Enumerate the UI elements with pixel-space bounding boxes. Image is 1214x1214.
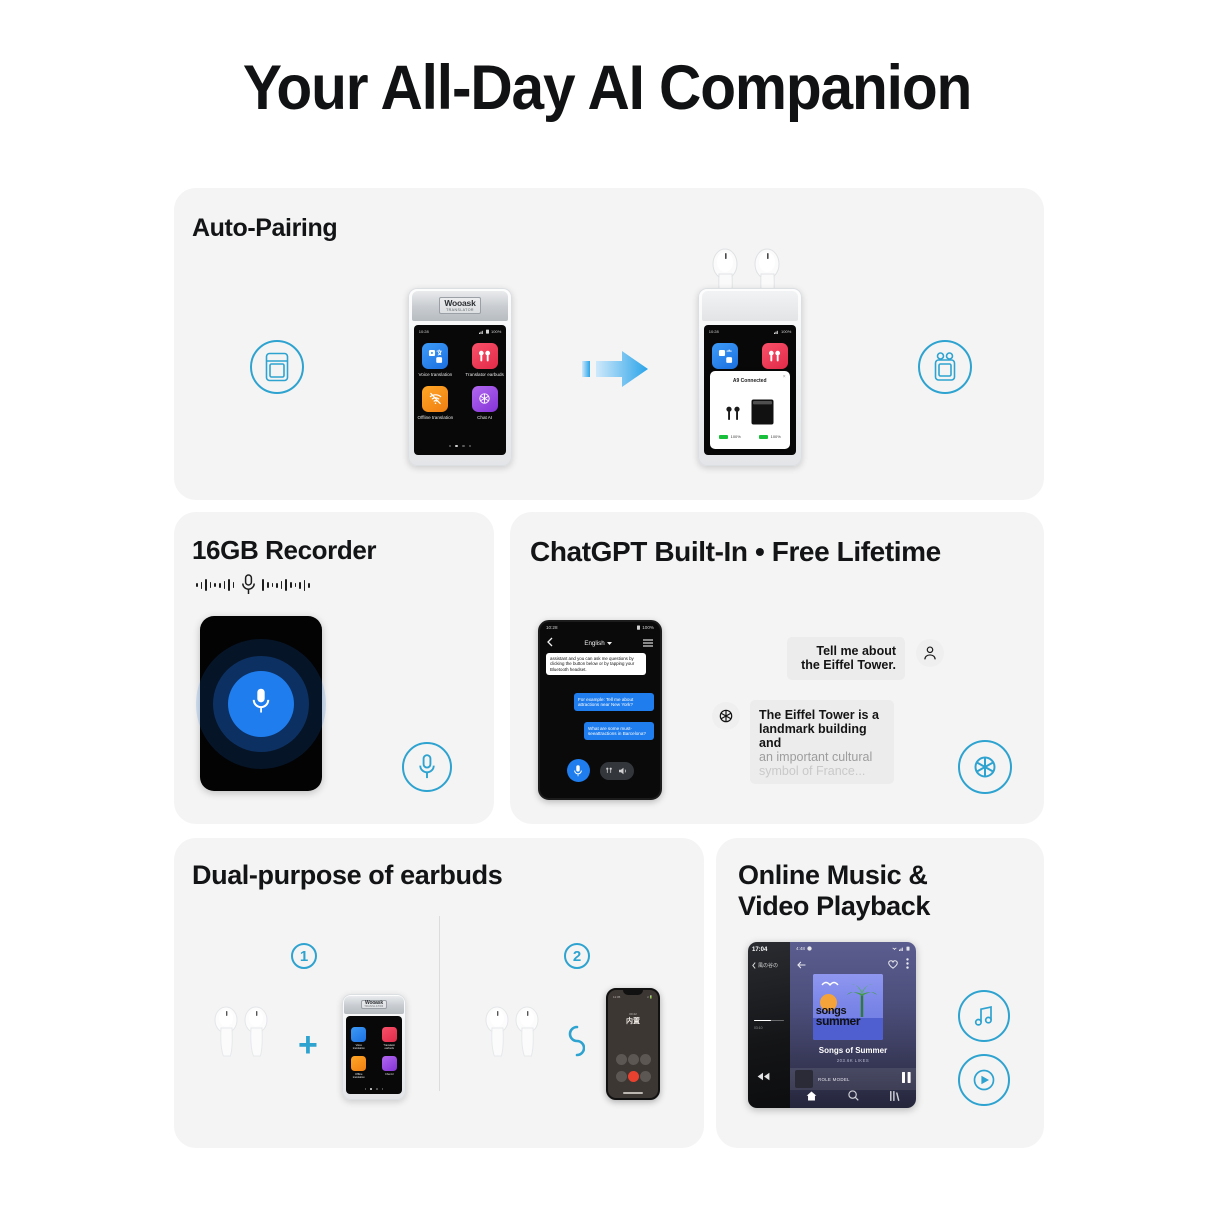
now-playing-title: ROLE MODEL [818,1077,897,1082]
app-tile-chat-ai[interactable]: Chat AI [472,386,498,420]
app-tile-translator-earbuds[interactable]: Translator earbuds [465,343,503,377]
phone-controls [540,759,660,782]
page-title: Your All-Day AI Companion [42,52,1171,124]
recorder-device [200,616,322,791]
card-title-recorder: 16GB Recorder [192,535,376,565]
dialog-device-icons [710,393,790,425]
app-tile-label: Voice translation [418,372,452,377]
music-statusbar: 4:48 [790,942,916,955]
option-2-number: 2 [564,943,590,969]
earbuds-icon [472,343,498,369]
heart-icon[interactable] [888,956,898,974]
card-music: Online Music & Video Playback 17:04 風の谷の… [716,838,1044,1148]
language-label: English [584,640,604,647]
album-art: songs summer [813,974,883,1040]
app-tile-label: Chat AI [472,415,498,420]
plus-symbol: + [298,1028,318,1062]
earbuds-speaker-pill[interactable] [600,762,634,780]
assistant-line-2: landmark building and [759,722,885,750]
video-pane: 17:04 風の谷の 03:10 [748,942,790,1108]
card-title-dual-purpose: Dual-purpose of earbuds [192,860,502,891]
card-dual-purpose: Dual-purpose of earbuds 1 + [174,838,704,1148]
device-brand-sub: TRANSLATOR [444,309,475,313]
speaker-button[interactable] [640,1054,651,1065]
contacts-button[interactable] [640,1071,651,1082]
keypad-button[interactable] [628,1054,639,1065]
paired-device-group: 10:28 100% [682,248,818,468]
offline-wifi-icon [351,1056,366,1071]
chevron-left-icon [752,962,756,969]
speaker-icon [619,767,628,775]
language-selector[interactable]: English [584,640,611,647]
status-time: 4:48 [796,946,805,951]
device-statusbar-paired: 10:28 100% [704,325,797,338]
status-battery: 100% [781,329,791,334]
music-bottom-nav [790,1089,916,1105]
right-arrow-icon [580,348,650,395]
music-player: 17:04 風の谷の 03:10 4:48 [748,942,916,1108]
close-icon[interactable]: × [783,374,786,380]
microphone-button[interactable] [567,759,590,782]
app-tile-label: Offline translation [418,415,454,420]
device-screen: 10:28 100% Voice translation [414,325,507,455]
divider [439,916,440,1091]
page-dots [414,445,507,448]
earbuds-icon [605,766,613,775]
voice-translation-icon [712,343,738,369]
infographic-page: Your All-Day AI Companion Auto-Pairing W… [0,0,1214,1214]
link-chain-icon [563,1023,585,1066]
translator-device-left: Wooask TRANSLATOR 10:28 100% [408,288,512,466]
music-pane: 4:48 [790,942,916,1108]
audio-waveform-icon [196,574,310,596]
person-icon [922,645,938,661]
record-button[interactable] [200,639,322,769]
battery-icon [637,625,640,630]
status-battery: 100% [491,329,501,334]
user-bubble-2: What are some must-seeattractions in Bar… [584,722,654,740]
user-line-1: Tell me about [796,644,896,658]
smartphone-call-icon: 11:05ıl 🔋 00:42 内置 [606,988,660,1100]
avatar-assistant [712,702,740,730]
assistant-bubble: assistant and you can ask me questions b… [546,653,646,675]
card-title-auto-pairing: Auto-Pairing [192,214,337,243]
now-playing-bar[interactable]: ROLE MODEL [790,1068,916,1090]
device-app-grid-small: Voicetranslation Translatorearbuds Offli… [346,1027,403,1080]
playlist-likes: 203.6K LIKES [790,1058,916,1063]
case-battery: 100% [771,434,781,439]
device-brand: Wooask [444,299,475,308]
music-note-circle-icon [958,990,1010,1042]
device-screen-paired: 10:28 100% [704,325,797,455]
device-brand-box: Wooask TRANSLATOR [439,297,480,314]
chevron-left-icon[interactable] [547,634,553,652]
video-time: 17:04 [752,947,767,953]
card-recorder: 16GB Recorder [174,512,494,824]
translator-device-right: 10:28 100% [698,288,802,466]
app-tile-label: Translator earbuds [465,372,503,377]
device-with-earbuds-icon [918,340,972,394]
bluetooth-signal-icon [774,330,779,334]
device-cap: Wooask TRANSLATOR [412,291,509,321]
device-app-grid-paired [704,343,797,369]
device-statusbar: 10:28 100% [414,325,507,338]
voice-translation-icon [422,343,448,369]
device-screen-small: Voicetranslation Translatorearbuds Offli… [346,1016,403,1093]
playlist-title: Songs of Summer [790,1046,916,1055]
assistant-line-1: The Eiffel Tower is a [759,708,885,722]
user-bubble-1: For example: Tell me about attractions n… [574,693,654,711]
app-tile-offline-translation[interactable]: Offline translation [418,386,454,420]
search-icon[interactable] [848,1088,859,1106]
card-auto-pairing: Auto-Pairing Wooask TRANSLATOR 10:28 [174,188,1044,500]
call-label: 内置 [608,1016,658,1026]
voice-translation-icon [351,1027,366,1042]
openai-icon [472,386,498,412]
library-icon[interactable] [890,1088,901,1106]
phone-navbar: English [540,635,660,651]
hamburger-menu-icon[interactable] [643,634,653,652]
rewind-icon[interactable] [757,1068,770,1086]
device-brand-sub: TRANSLATOR [364,1006,383,1008]
translator-device-icon [250,340,304,394]
call-keypad [608,1054,658,1082]
earbuds-battery: 100% [731,434,741,439]
status-battery: 100% [642,625,654,630]
conversation-user-bubble: Tell me about the Eiffel Tower. [787,637,905,680]
offline-wifi-icon [422,386,448,412]
card-title-music: Online Music & Video Playback [738,860,930,923]
add-call-button[interactable] [616,1071,627,1082]
video-title: 風の谷の [758,962,778,969]
pause-icon[interactable] [902,1070,911,1088]
earbuds-icon [382,1027,397,1042]
microphone-circle-icon [402,742,452,792]
dialog-title: A9 Connected [710,371,790,384]
earbuds-pair-2 [481,1006,543,1067]
battery-icon [486,329,489,334]
device-app-grid: Voice translation Translator earbuds Off… [414,343,507,419]
dialog-battery-row: 100% 100% [710,434,790,439]
assistant-line-4: symbol of France... [759,764,885,778]
earbuds-icon [725,405,741,425]
user-line-2: the Eiffel Tower. [796,658,896,672]
mute-button[interactable] [616,1054,627,1065]
more-vertical-icon[interactable] [906,956,909,974]
earbuds-pair-1 [210,1006,272,1067]
openai-circle-icon [958,740,1012,794]
now-playing-thumb [795,1070,813,1088]
earbuds-icon [762,343,788,369]
app-tile-voice-translation[interactable]: Voice translation [418,343,452,377]
assistant-line-3: an important cultural [759,750,885,764]
end-call-button[interactable] [628,1071,639,1082]
option-1-number: 1 [291,943,317,969]
microphone-icon [241,574,256,596]
back-arrow-icon[interactable] [797,956,806,974]
status-time: 10:28 [709,329,719,334]
album-art-text: songs summer [816,1006,860,1027]
translator-device-small: Wooask TRANSLATOR Voicetranslation Trans… [342,994,406,1100]
avatar-user [916,639,944,667]
a9-connected-dialog: A9 Connected × [710,371,790,449]
home-icon[interactable] [806,1088,817,1106]
openai-icon [717,707,735,725]
play-circle-icon [958,1054,1010,1106]
card-chatgpt: ChatGPT Built-In • Free Lifetime 10:28 1… [510,512,1044,824]
chevron-down-icon [607,642,612,645]
card-title-chatgpt: ChatGPT Built-In • Free Lifetime [530,536,941,568]
chat-phone: 10:28 100% English assistant and yo [538,620,662,800]
microphone-icon [250,686,272,716]
status-time: 10:28 [419,329,429,334]
charging-case-icon [751,399,774,425]
status-time: 10:28 [546,625,558,630]
phone-statusbar: 10:28 100% [540,622,660,633]
signal-icon [479,330,484,334]
openai-icon [382,1056,397,1071]
music-navbar [790,956,916,974]
conversation-assistant-bubble: The Eiffel Tower is a landmark building … [750,700,894,784]
